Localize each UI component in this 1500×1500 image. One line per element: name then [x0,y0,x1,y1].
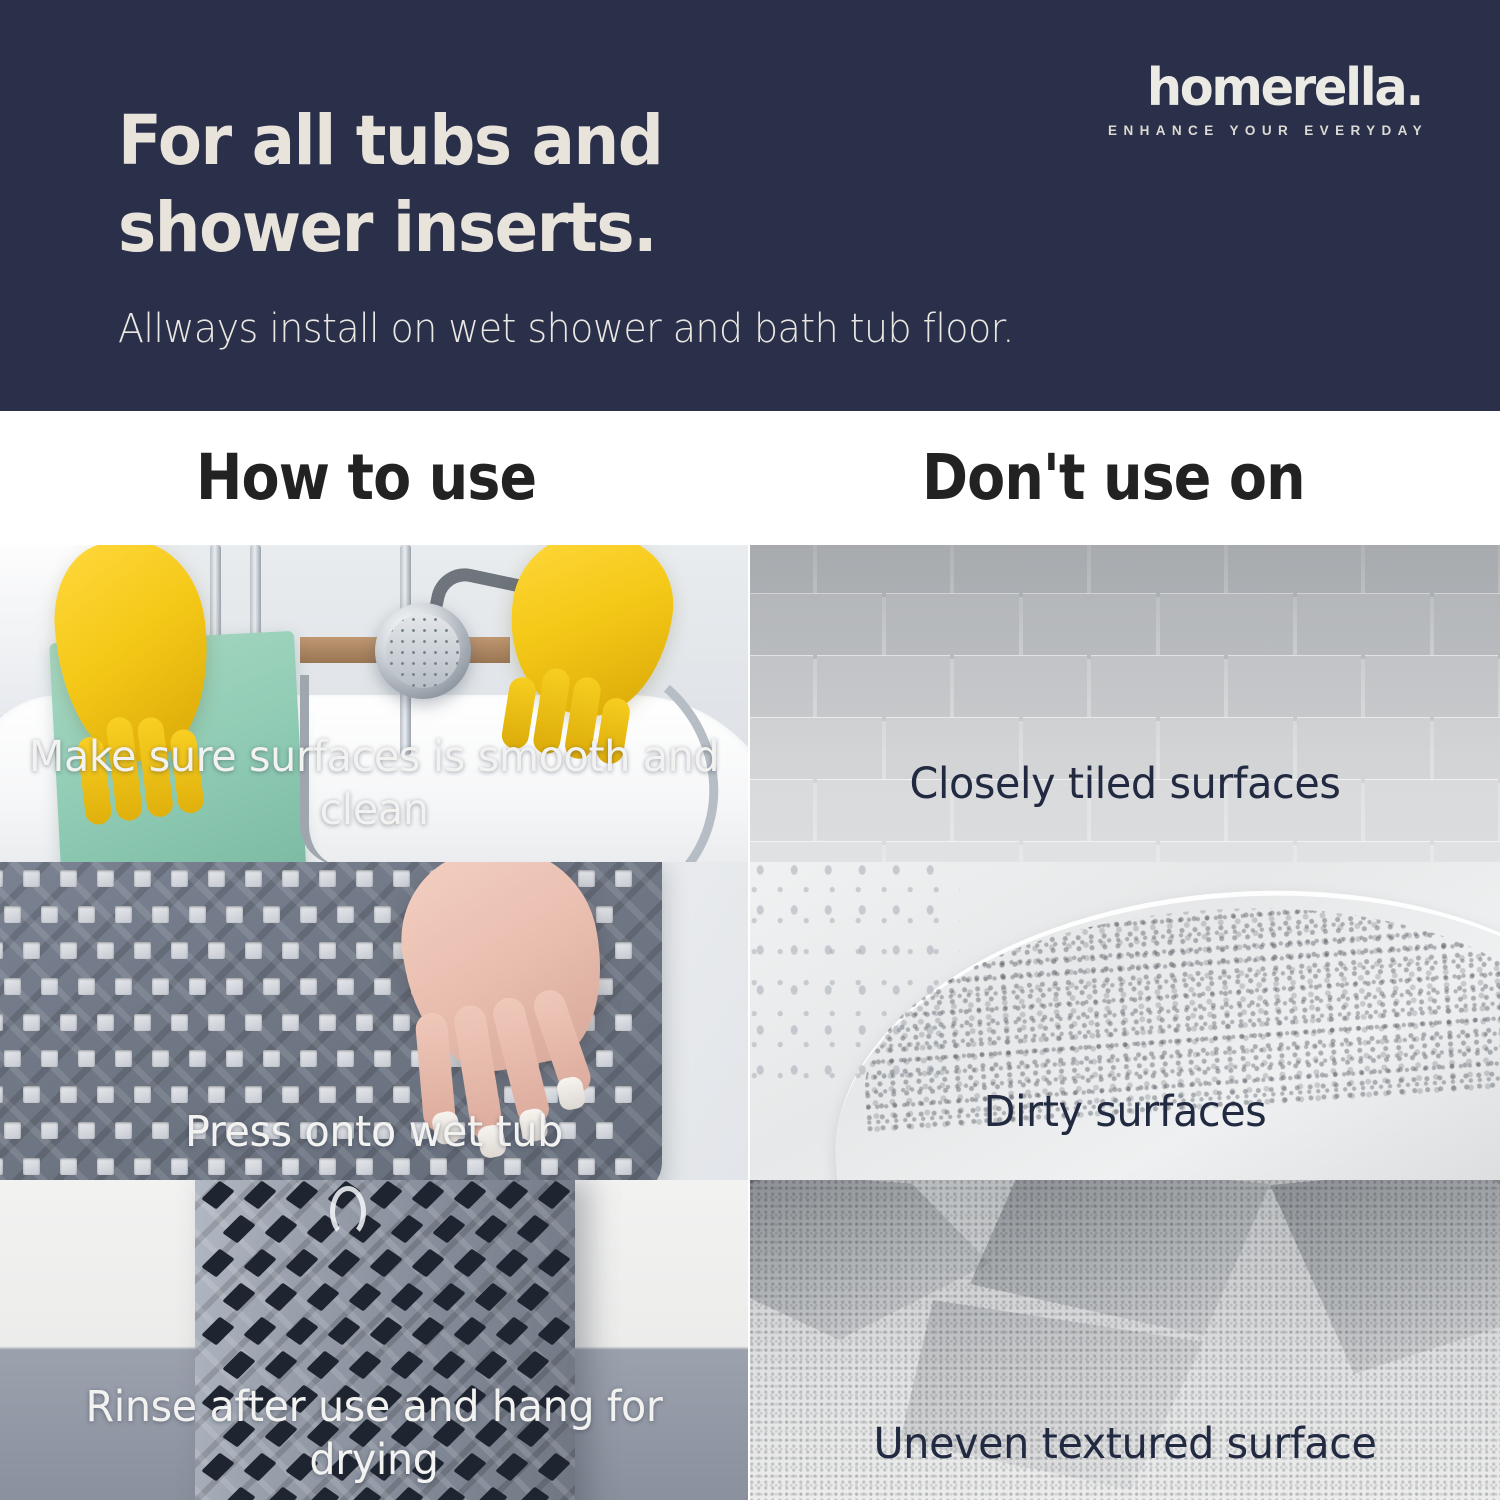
showerhead-icon [375,603,471,699]
panel-caption: Press onto wet tub [15,1106,733,1158]
water-droplets [750,862,960,1092]
product-infographic: For all tubs and shower inserts. Allways… [0,0,1500,1500]
instruction-grid: Make sure surfaces is smooth and clean P… [0,545,1500,1500]
page-title: For all tubs and shower inserts. [118,98,881,272]
section-title-dont-use-on: Don't use on [922,441,1305,514]
panel-caption: Make sure surfaces is smooth and clean [15,731,733,836]
panel-caption: Uneven textured surface [765,1418,1485,1470]
tile-light-gradient [750,545,1500,862]
dont-use-panel-1: Closely tiled surfaces [750,545,1500,862]
panel-caption: Closely tiled surfaces [765,758,1485,810]
panel-caption: Dirty surfaces [765,1086,1485,1138]
how-to-use-panel-1: Make sure surfaces is smooth and clean [0,545,748,862]
page-subtitle: Allways install on wet shower and bath t… [118,306,1014,352]
brand-logo: homerella. ENHANCE YOUR EVERYDAY [1108,62,1422,138]
yellow-glove-right [497,545,683,726]
how-to-use-panel-2: Press onto wet tub [0,862,748,1180]
header-banner: For all tubs and shower inserts. Allways… [0,0,1500,411]
panel-caption: Rinse after use and hang for drying [15,1381,733,1486]
dont-use-panel-2: Dirty surfaces [750,862,1500,1180]
section-titles-bar: How to use Don't use on [0,411,1500,545]
section-title-how-to-use: How to use [196,441,536,514]
brand-tagline: ENHANCE YOUR EVERYDAY [1108,123,1428,138]
how-to-use-panel-3: Rinse after use and hang for drying [0,1180,748,1500]
brand-wordmark: homerella. [1124,62,1422,114]
suction-hook-icon [330,1186,366,1238]
dont-use-panel-3: Uneven textured surface [750,1180,1500,1500]
